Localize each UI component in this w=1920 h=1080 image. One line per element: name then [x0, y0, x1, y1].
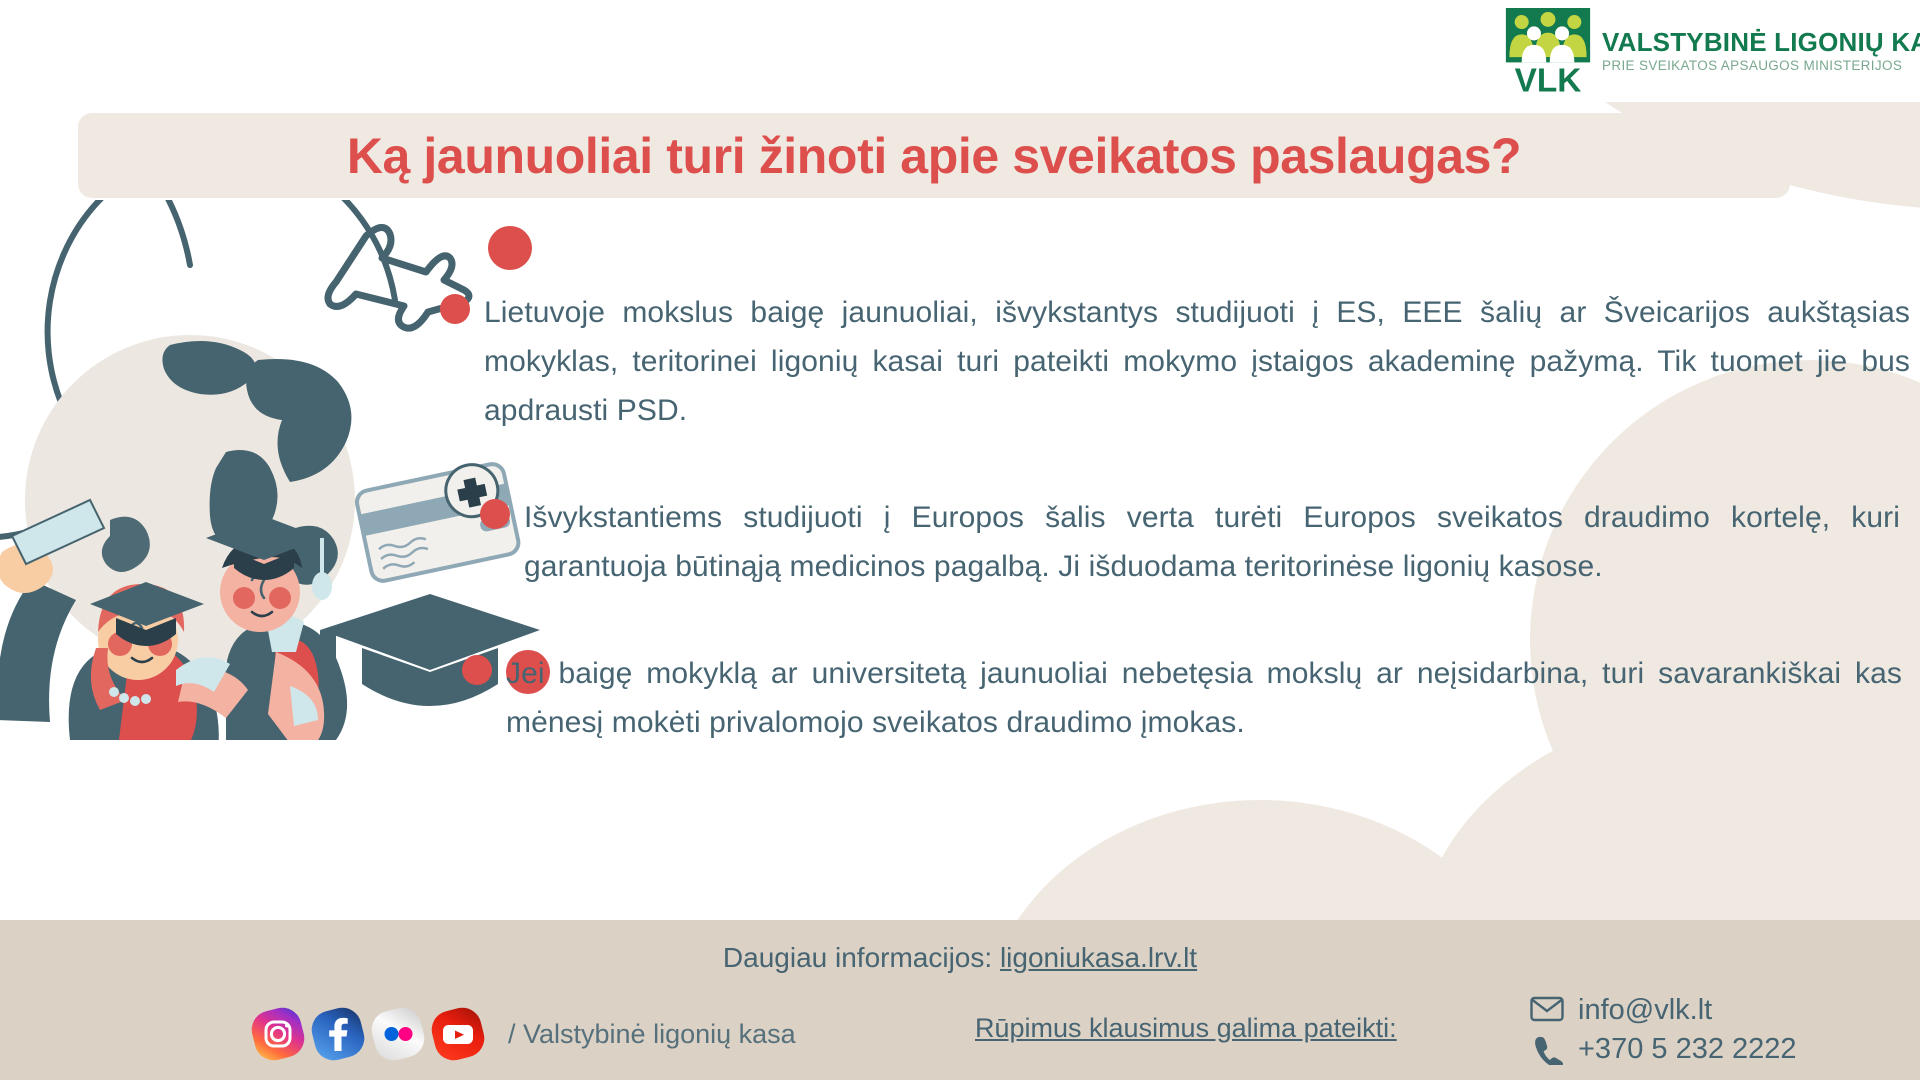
vlk-logo-icon: VLK	[1504, 8, 1592, 94]
facebook-icon[interactable]	[310, 1006, 366, 1062]
social-handle: / Valstybinė ligonių kasa	[508, 1019, 796, 1050]
bullet-text-1: Lietuvoje mokslus baigę jaunuoliai, išvy…	[484, 288, 1910, 435]
bullet-text-3: Jei baigę mokyklą ar universitetą jaunuo…	[506, 649, 1902, 747]
ask-questions-label[interactable]: Rūpimus klausimus galima pateikti:	[975, 1013, 1397, 1044]
bullet-item-2: Išvykstantiems studijuoti į Europos šali…	[480, 493, 1900, 591]
bullet-dot-icon	[480, 499, 510, 529]
page-title: Ką jaunuoliai turi žinoti apie sveikatos…	[347, 127, 1521, 185]
title-banner: Ką jaunuoliai turi žinoti apie sveikatos…	[78, 113, 1790, 198]
instagram-icon[interactable]	[250, 1006, 306, 1062]
bullet-item-3: Jei baigę mokyklą ar universitetą jaunuo…	[462, 649, 1902, 747]
phone-icon	[1530, 1035, 1564, 1065]
phone-value: +370 5 232 2222	[1578, 1033, 1797, 1066]
org-subtitle: PRIE SVEIKATOS APSAUGOS MINISTERIJOS	[1602, 59, 1920, 73]
vlk-logo: VLK VALSTYBINĖ LIGONIŲ KASA PRIE SVEIKAT…	[1490, 0, 1920, 102]
bullet-item-1: Lietuvoje mokslus baigę jaunuoliai, išvy…	[440, 288, 1910, 435]
svg-text:VLK: VLK	[1515, 62, 1582, 94]
footer: Daugiau informacijos: ligoniukasa.lrv.lt	[0, 920, 1920, 1080]
youtube-icon[interactable]	[430, 1006, 486, 1062]
social-links: / Valstybinė ligonių kasa	[250, 1006, 796, 1062]
contact-email[interactable]: info@vlk.lt	[1530, 994, 1797, 1027]
contact-phone[interactable]: +370 5 232 2222	[1530, 1033, 1797, 1066]
bullet-dot-icon	[462, 655, 492, 685]
org-name: VALSTYBINĖ LIGONIŲ KASA	[1602, 29, 1920, 55]
infographic-canvas: VLK VALSTYBINĖ LIGONIŲ KASA PRIE SVEIKAT…	[0, 0, 1920, 1080]
flickr-icon[interactable]	[370, 1006, 426, 1062]
envelope-icon	[1530, 996, 1564, 1026]
bullet-dot-icon	[440, 294, 470, 324]
decor-dot-red-top	[488, 226, 532, 270]
bullet-text-2: Išvykstantiems studijuoti į Europos šali…	[524, 493, 1900, 591]
more-info-label: Daugiau informacijos:	[723, 942, 992, 973]
contact-block: info@vlk.lt +370 5 232 2222	[1530, 994, 1797, 1066]
email-value: info@vlk.lt	[1578, 994, 1712, 1027]
bullet-list: Lietuvoje mokslus baigę jaunuoliai, išvy…	[440, 288, 1920, 747]
website-link[interactable]: ligoniukasa.lrv.lt	[1000, 942, 1197, 973]
more-info-line: Daugiau informacijos: ligoniukasa.lrv.lt	[0, 942, 1920, 974]
